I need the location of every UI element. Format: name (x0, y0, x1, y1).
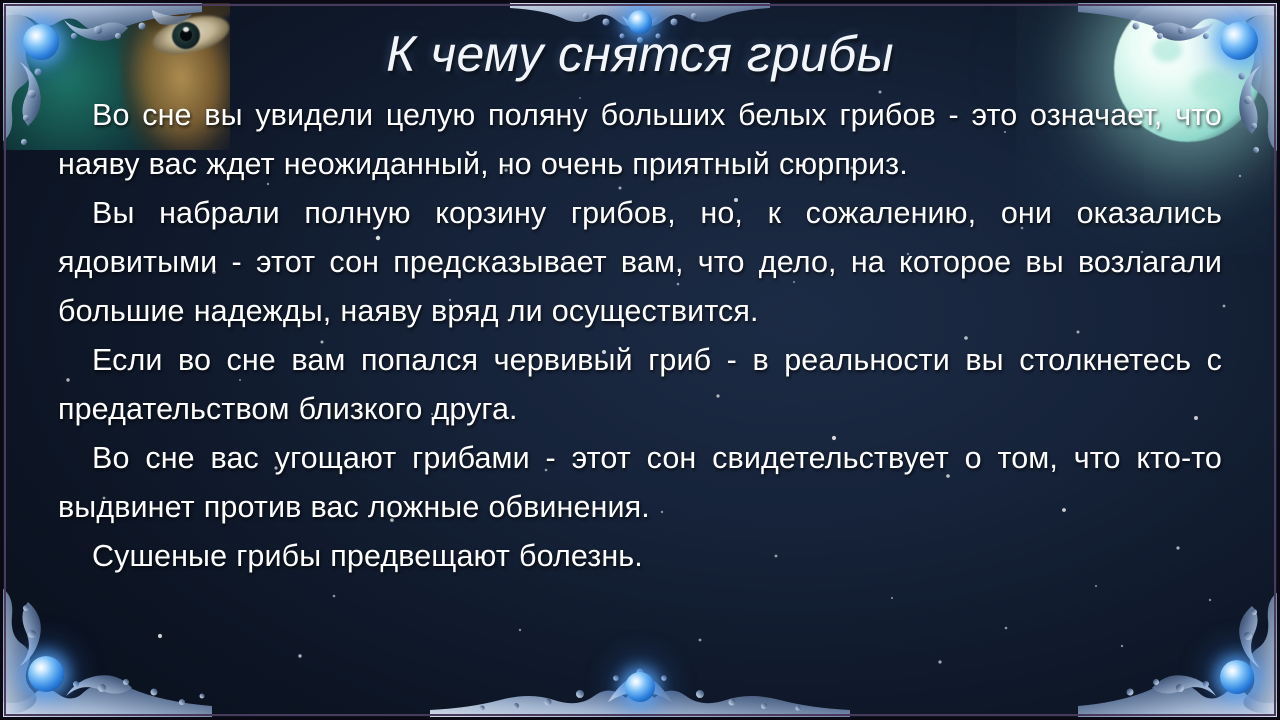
slide-stage: К чему снятся грибы Во сне вы увидели це… (0, 0, 1280, 720)
body-text: Во сне вы увидели целую поляну больших б… (58, 91, 1222, 581)
slide-content: К чему снятся грибы Во сне вы увидели це… (0, 0, 1280, 720)
paragraph: Вы набрали полную корзину грибов, но, к … (58, 189, 1222, 336)
paragraph: Сушеные грибы предвещают болезнь. (58, 532, 1222, 581)
paragraph: Во сне вы увидели целую поляну больших б… (58, 91, 1222, 189)
paragraph: Во сне вас угощают грибами - этот сон св… (58, 434, 1222, 532)
page-title: К чему снятся грибы (58, 28, 1222, 81)
paragraph: Если во сне вам попался червивый гриб - … (58, 336, 1222, 434)
